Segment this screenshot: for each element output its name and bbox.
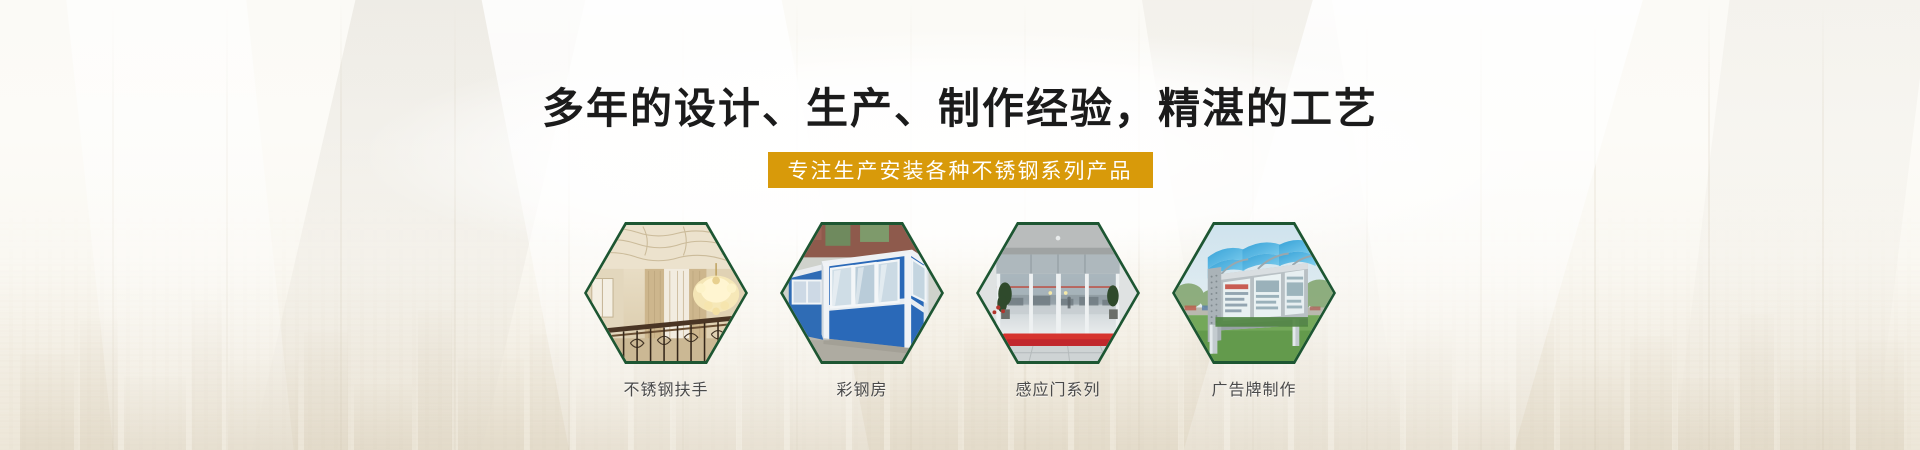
product-thumbnail-sensor-door[interactable]: 感应门系列: [972, 222, 1144, 400]
stainless-steel-handrail-photo: [587, 225, 745, 361]
banner-subtitle-text: 专注生产安装各种不锈钢系列产品: [788, 155, 1133, 185]
hexagon-frame[interactable]: [584, 222, 748, 364]
thumbnail-caption: 不锈钢扶手: [623, 376, 708, 400]
product-thumbnail-billboard[interactable]: 广告牌制作: [1168, 222, 1340, 400]
hexagon-frame[interactable]: [780, 222, 944, 364]
hexagon-frame[interactable]: [1172, 222, 1336, 364]
banner-content: 多年的设计、生产、制作经验，精湛的工艺 专注生产安装各种不锈钢系列产品: [0, 0, 1920, 450]
hexagon-frame[interactable]: [976, 222, 1140, 364]
color-steel-guard-house-photo: [783, 225, 941, 361]
product-thumbnail-row: 不锈钢扶手: [580, 222, 1340, 400]
promo-banner: 多年的设计、生产、制作经验，精湛的工艺 专注生产安装各种不锈钢系列产品: [0, 0, 1920, 450]
thumbnail-caption: 感应门系列: [1015, 376, 1100, 400]
billboard-fabrication-photo: [1175, 225, 1333, 361]
product-thumbnail-guard-house[interactable]: 彩钢房: [776, 222, 948, 400]
product-thumbnail-handrail[interactable]: 不锈钢扶手: [580, 222, 752, 400]
banner-headline: 多年的设计、生产、制作经验，精湛的工艺: [542, 88, 1378, 130]
automatic-sensor-door-photo: [979, 225, 1137, 361]
banner-subtitle-bar: 专注生产安装各种不锈钢系列产品: [768, 152, 1153, 188]
thumbnail-caption: 广告牌制作: [1211, 376, 1296, 400]
thumbnail-caption: 彩钢房: [836, 376, 887, 400]
